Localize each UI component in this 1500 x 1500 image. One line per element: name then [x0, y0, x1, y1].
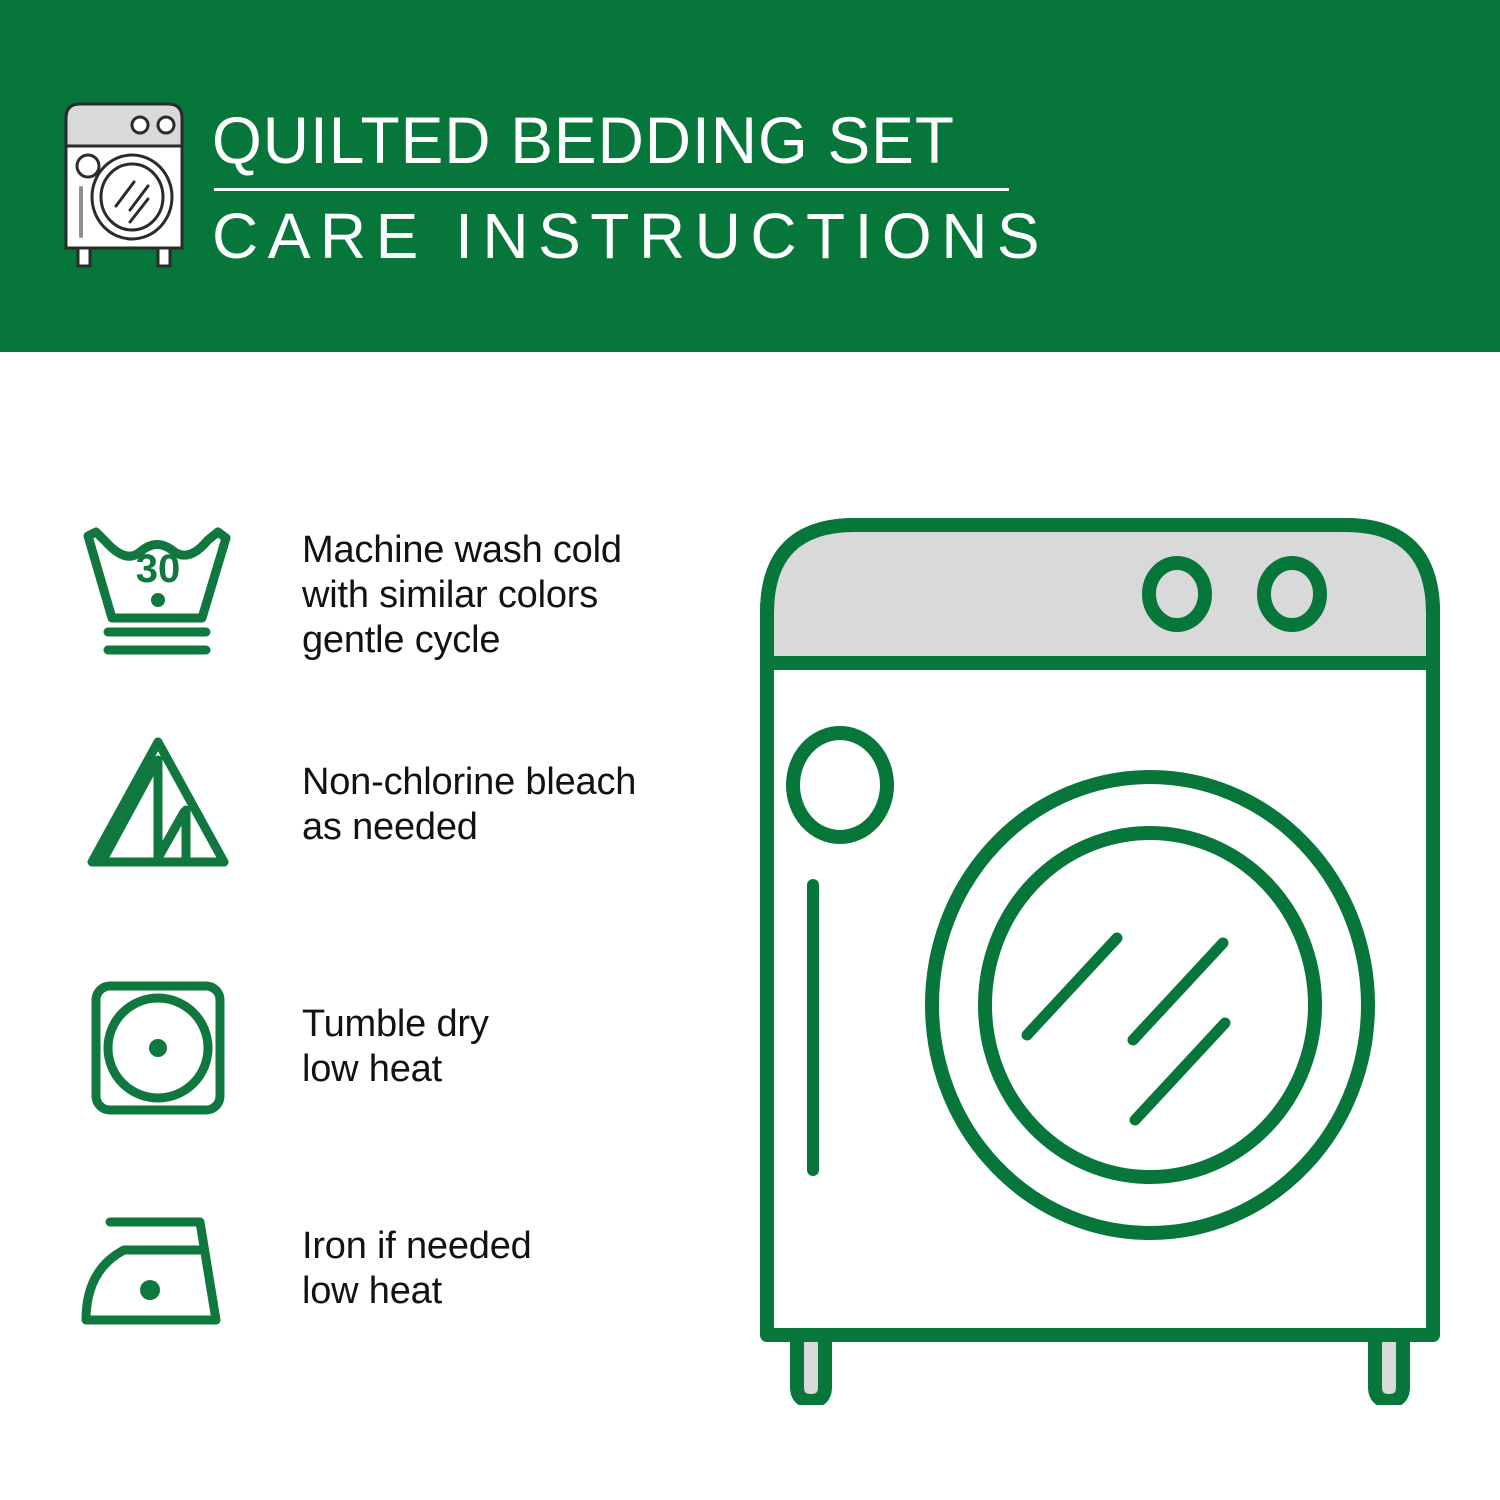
wash-tub-30-gentle-icon: 30: [72, 520, 244, 670]
care-item-text: Machine wash cold with similar colors ge…: [302, 528, 622, 663]
care-item-text: Tumble dry low heat: [302, 1002, 489, 1092]
machine-leg-right: [1375, 1333, 1403, 1401]
header-text-block: QUILTED BEDDING SET CARE INSTRUCTIONS: [212, 98, 1049, 271]
care-instruction-list: 30 Machine wash cold with similar colors…: [0, 352, 730, 1500]
care-line: with similar colors: [302, 573, 622, 618]
machine-leg-left: [797, 1333, 825, 1401]
care-item-text: Iron if needed low heat: [302, 1224, 532, 1314]
machine-control-panel: [767, 525, 1433, 663]
care-item-text: Non-chlorine bleach as needed: [302, 760, 636, 850]
care-line: Iron if needed: [302, 1224, 532, 1269]
wash-temperature-value: 30: [136, 547, 181, 591]
care-line: Tumble dry: [302, 1002, 489, 1047]
care-item-iron: Iron if needed low heat: [72, 1194, 712, 1344]
care-item-tumble-dry: Tumble dry low heat: [72, 972, 712, 1122]
care-line: low heat: [302, 1047, 489, 1092]
care-item-machine-wash: 30 Machine wash cold with similar colors…: [72, 520, 712, 670]
title-divider: [214, 188, 1009, 191]
washing-machine-icon: [58, 98, 190, 268]
front-load-washing-machine-illustration: [745, 495, 1455, 1405]
header-content: QUILTED BEDDING SET CARE INSTRUCTIONS: [58, 98, 1049, 271]
care-line: low heat: [302, 1269, 532, 1314]
care-line: gentle cycle: [302, 618, 622, 663]
care-item-bleach: Non-chlorine bleach as needed: [72, 730, 712, 880]
care-line: as needed: [302, 805, 636, 850]
iron-low-heat-icon: [72, 1194, 244, 1344]
page-title: QUILTED BEDDING SET: [212, 104, 1024, 176]
tumble-dry-low-icon: [72, 972, 244, 1122]
page-subtitle: CARE INSTRUCTIONS: [212, 201, 1049, 271]
care-line: Non-chlorine bleach: [302, 760, 636, 805]
care-line: Machine wash cold: [302, 528, 622, 573]
non-chlorine-bleach-triangle-icon: [72, 730, 244, 880]
header-banner: QUILTED BEDDING SET CARE INSTRUCTIONS: [0, 0, 1500, 352]
